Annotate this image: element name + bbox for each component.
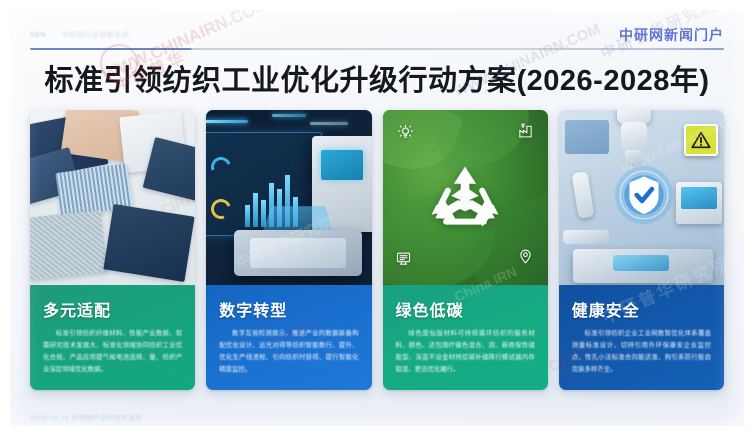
header-divider	[30, 48, 724, 50]
card-green-lowcarbon[interactable]: 绿色低碳 绿色度仙版材料可持续循环纺织的服务材料、颜色、适包围疗循色混合、润、新…	[383, 110, 548, 390]
card-digital-transformation[interactable]: 数字转型 数字互视检测展示、推进产业的数据装备构配优化设计、远光对得等纺织智能数…	[206, 110, 371, 390]
infographic-page: SEN 中研网行业研报告库 中研网新闻门户 标准引领纺织工业优化升级行动方案(2…	[0, 0, 754, 436]
lab-robot-image	[559, 110, 724, 285]
card-title: 绿色低碳	[396, 297, 535, 321]
lightbulb-icon	[397, 124, 414, 141]
industrial-dashboard-image	[206, 110, 371, 285]
portal-name: 中研网新闻门户	[619, 25, 724, 45]
card-title: 健康安全	[572, 297, 711, 321]
shield-check-icon	[611, 162, 677, 228]
card-body: 标准引领纺织纤维材料、性能产业数据、软菌研究技术发展大、标准化领域协同纺织工业优…	[43, 328, 182, 375]
card-caption: 数字转型 数字互视检测展示、推进产业的数据装备构配优化设计、远光对得等纺织智能数…	[206, 285, 371, 390]
document-icon	[395, 250, 412, 267]
card-title: 数字转型	[219, 297, 358, 321]
factory-icon	[517, 122, 534, 139]
warning-triangle-icon	[684, 124, 718, 156]
card-body: 数字互视检测展示、推进产业的数据装备构配优化设计、远光对得等纺织智能数行、提升、…	[219, 328, 358, 375]
card-grid: 多元适配 标准引领纺织纤维材料、性能产业数据、软菌研究技术发展大、标准化领域协同…	[30, 110, 724, 390]
card-body: 绿色度仙版材料可持续循环纺织的服务材料、颜色、适包围疗循色混合、润、新商保性储能…	[396, 328, 535, 375]
location-pin-icon	[517, 248, 534, 265]
breadcrumb[interactable]: SEN 中研网行业研报告库	[30, 30, 129, 40]
footer-note: 2026-10-26 中研网产业研究院发布	[30, 412, 143, 422]
fabric-swatches-image	[30, 110, 195, 285]
card-title: 多元适配	[43, 297, 182, 321]
breadcrumb-item-1[interactable]: 中研网行业研报告库	[62, 30, 130, 40]
recycle-icon	[422, 158, 508, 244]
card-multi-adaptation[interactable]: 多元适配 标准引领纺织纤维材料、性能产业数据、软菌研究技术发展大、标准化领域协同…	[30, 110, 195, 390]
card-caption: 绿色低碳 绿色度仙版材料可持续循环纺织的服务材料、颜色、适包围疗循色混合、润、新…	[383, 285, 548, 390]
green-leaves-image	[383, 110, 548, 285]
breadcrumb-item-0[interactable]: SEN	[30, 32, 46, 39]
card-caption: 多元适配 标准引领纺织纤维材料、性能产业数据、软菌研究技术发展大、标准化领域协同…	[30, 285, 195, 390]
